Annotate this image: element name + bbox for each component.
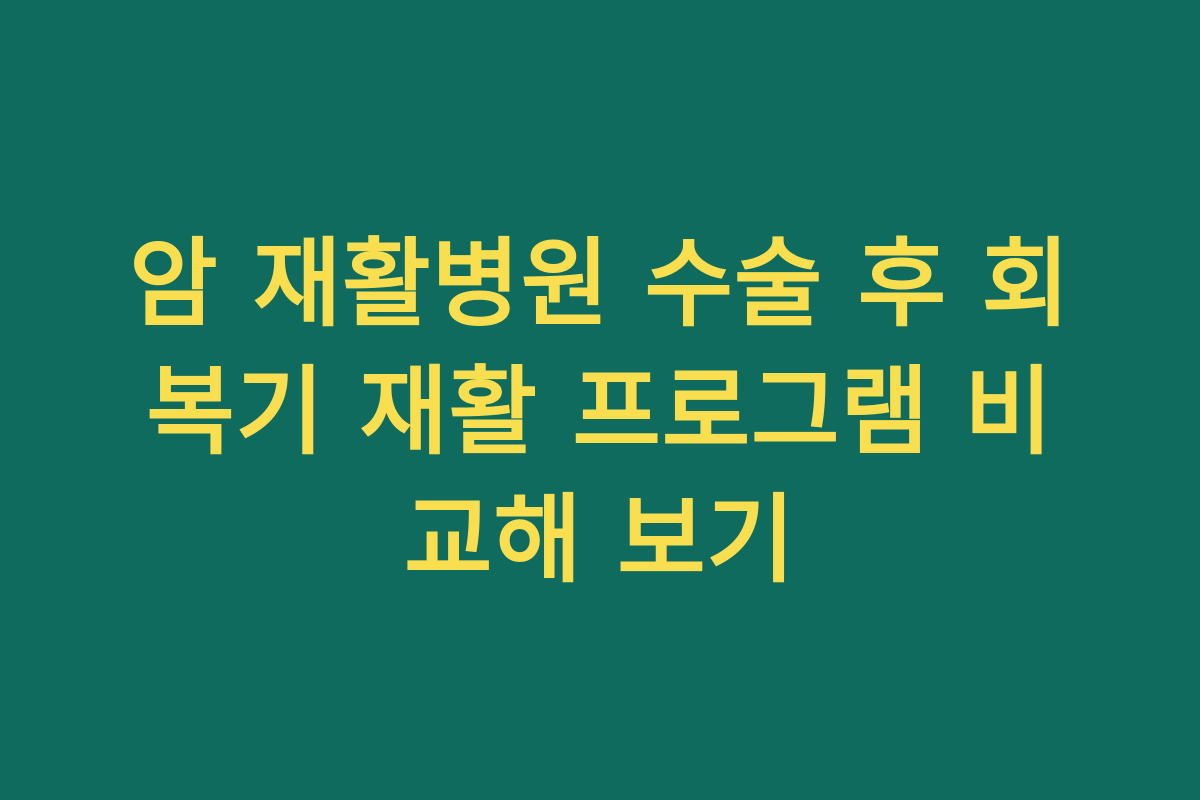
title-line-2: 복기 재활 프로그램 비: [80, 348, 1120, 476]
title-card-canvas: 암 재활병원 수술 후 회 복기 재활 프로그램 비 교해 보기: [0, 0, 1200, 800]
title-text-block: 암 재활병원 수술 후 회 복기 재활 프로그램 비 교해 보기: [80, 220, 1120, 604]
title-line-3: 교해 보기: [80, 476, 1120, 604]
title-line-1: 암 재활병원 수술 후 회: [80, 220, 1120, 348]
